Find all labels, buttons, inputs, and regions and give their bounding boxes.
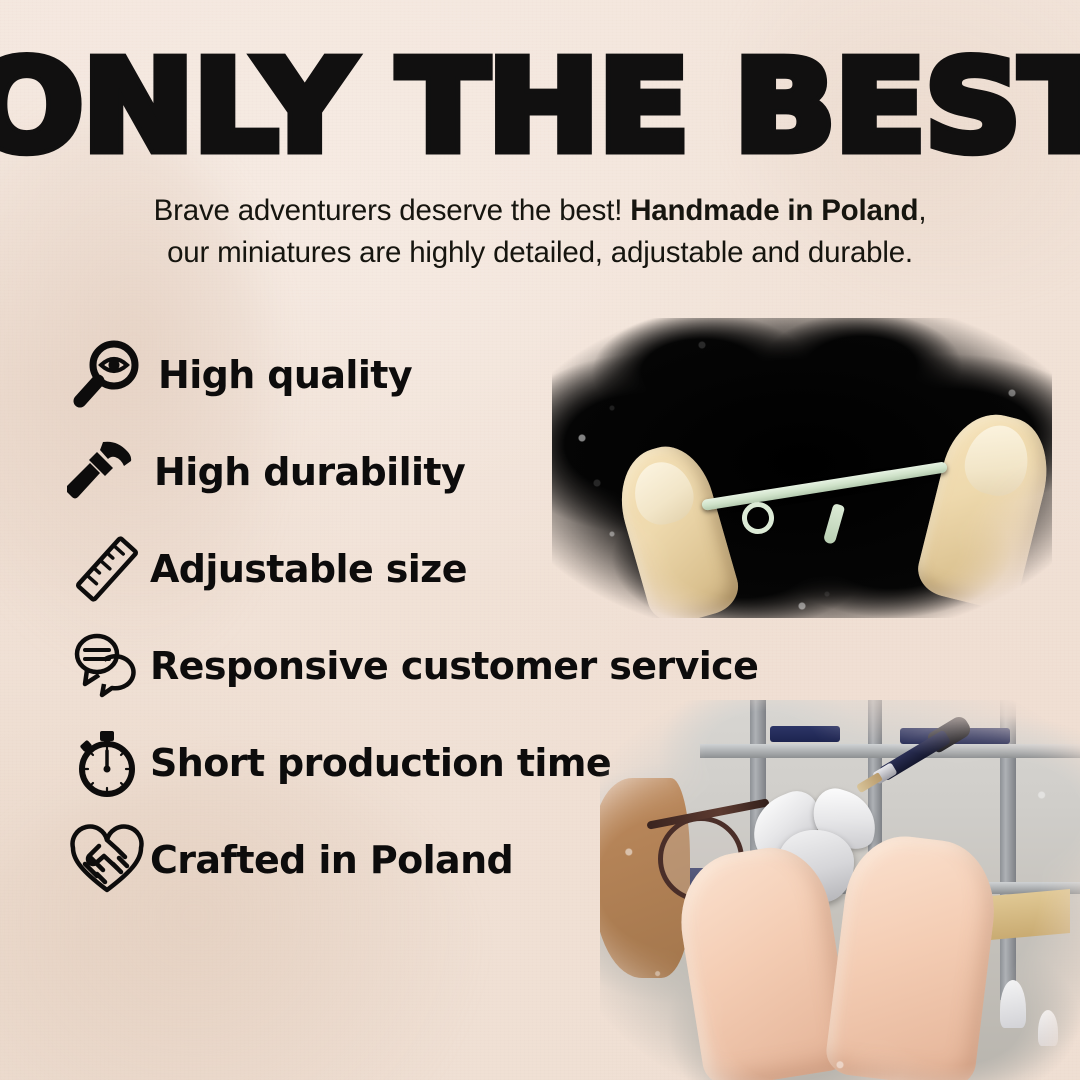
subtitle-comma: , <box>918 194 926 227</box>
infographic-canvas: ONLY THE BEST Brave adventurers deserve … <box>0 0 1080 1080</box>
photo-scene <box>600 700 1080 1080</box>
feature-label: High quality <box>158 353 412 397</box>
feature-label: High durability <box>154 450 465 494</box>
hammer-icon <box>60 432 146 512</box>
feature-label: Short production time <box>150 741 611 785</box>
handshake-heart-icon <box>64 820 150 900</box>
magnifier-eye-icon <box>64 335 150 415</box>
miniature-drop <box>823 503 846 545</box>
speech-bubbles-icon <box>64 626 150 706</box>
photo-backdrop <box>552 318 1052 618</box>
fingernail <box>959 419 1036 502</box>
subtitle-highlight: Handmade in Poland <box>630 194 918 227</box>
workshop-painting-photo <box>600 700 1080 1080</box>
fingernail <box>627 455 700 531</box>
ruler-icon <box>64 529 150 609</box>
subtitle-lead: Brave adventurers deserve the best! <box>154 194 623 227</box>
miniature-figure <box>1000 980 1026 1028</box>
miniature-ring <box>740 500 777 537</box>
subtitle-line-2: our miniatures are highly detailed, adju… <box>167 236 913 269</box>
feature-label: Adjustable size <box>150 547 467 591</box>
flexible-miniature-photo <box>552 318 1052 618</box>
miniature-part <box>702 478 950 542</box>
stopwatch-icon <box>64 723 150 803</box>
shelf-tray <box>770 726 840 742</box>
page-title: ONLY THE BEST <box>0 44 1080 170</box>
page-title-text: ONLY THE BEST <box>0 44 1080 170</box>
subtitle: Brave adventurers deserve the best! Hand… <box>90 190 990 274</box>
feature-label: Responsive customer service <box>150 644 758 688</box>
miniature-figure <box>1038 1010 1058 1046</box>
feature-label: Crafted in Poland <box>150 838 513 882</box>
